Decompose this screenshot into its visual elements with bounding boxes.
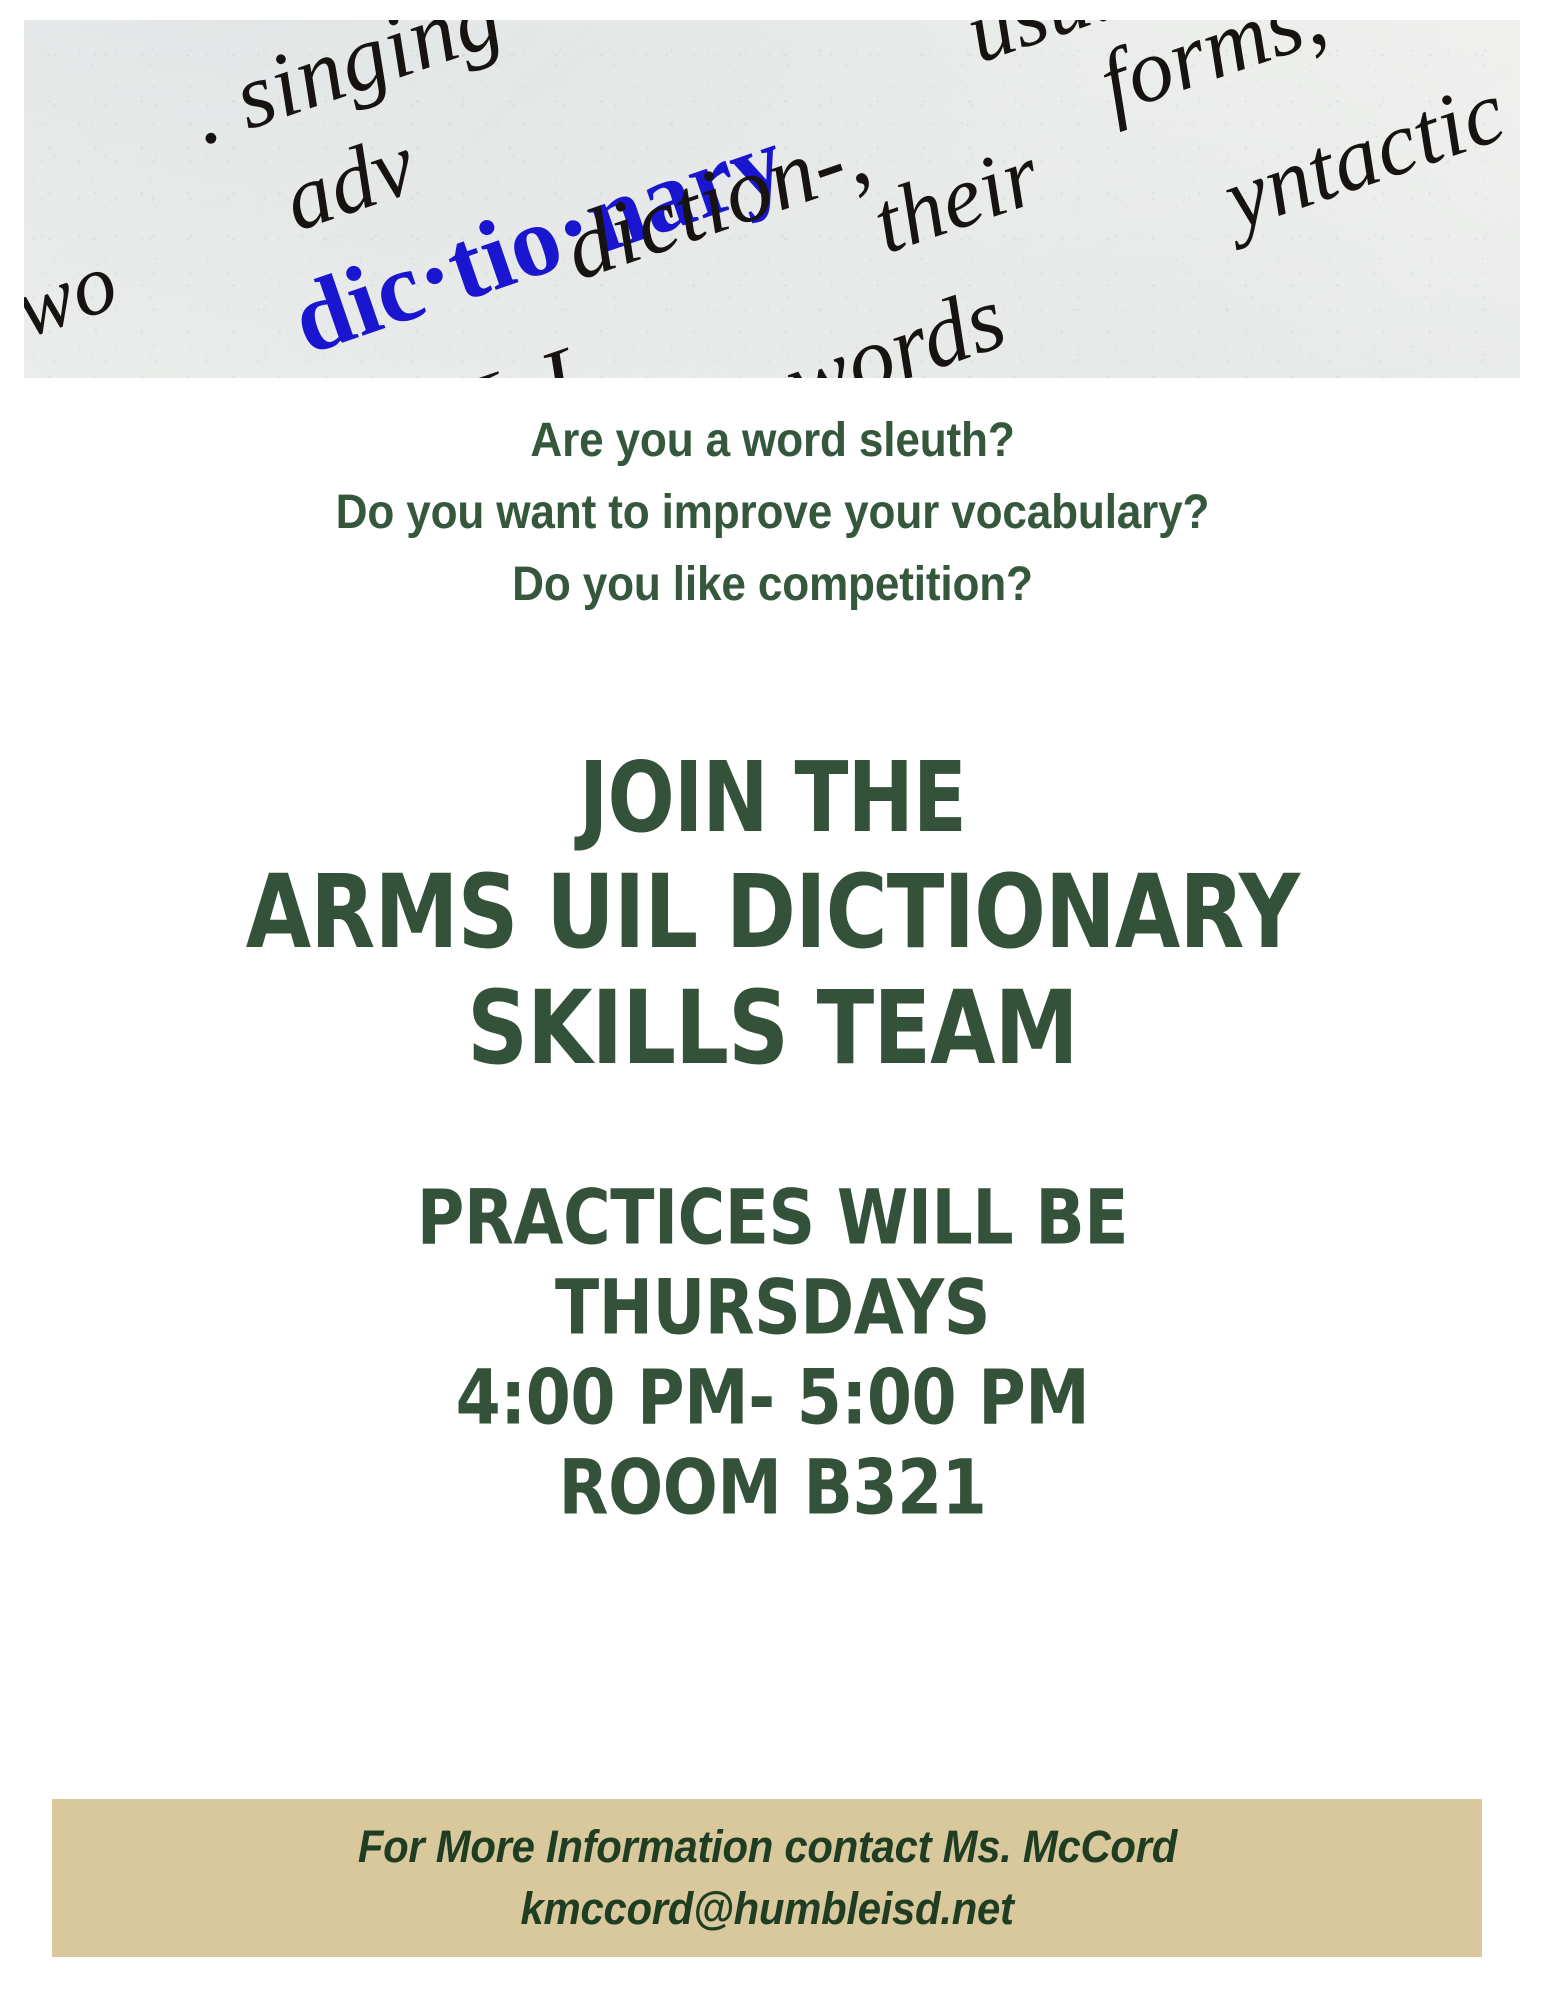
dictionary-page-photo: wo ion . singing adv dic·tio·nary dictio… xyxy=(24,20,1520,378)
practice-details: PRACTICES WILL BE THURSDAYS 4:00 PM- 5:0… xyxy=(0,1172,1545,1532)
detail-line-room: ROOM B321 xyxy=(77,1440,1468,1535)
dict-word-yntactic: yntactic xyxy=(1211,60,1518,251)
title-line-arms-uil-dictionary: ARMS UIL DICTIONARY xyxy=(93,851,1453,974)
title-line-skills-team: SKILLS TEAM xyxy=(93,967,1453,1090)
subheadline-line-2: Do you want to improve your vocabulary? xyxy=(62,477,1483,549)
dict-word-forms: forms, xyxy=(1087,20,1339,135)
subheadline-line-1: Are you a word sleuth? xyxy=(62,405,1483,477)
footer-email-address[interactable]: kmccord@humbleisd.net xyxy=(520,1878,1013,1940)
page-title: JOIN THE ARMS UIL DICTIONARY SKILLS TEAM xyxy=(0,742,1545,1086)
dict-word-their: their xyxy=(860,124,1052,274)
dict-word-ion: ion xyxy=(24,366,134,378)
footer-contact-text: For More Information contact Ms. McCord xyxy=(357,1816,1176,1878)
dict-word-l-l: L L xyxy=(457,319,610,378)
dict-word-to: wo xyxy=(24,231,129,359)
subheadline-group: Are you a word sleuth? Do you want to im… xyxy=(0,405,1545,621)
detail-line-practices-will-be: PRACTICES WILL BE xyxy=(77,1170,1468,1265)
subheadline-line-3: Do you like competition? xyxy=(62,549,1483,621)
detail-line-thursdays: THURSDAYS xyxy=(77,1260,1468,1355)
contact-footer-band: For More Information contact Ms. McCord … xyxy=(52,1799,1482,1957)
detail-line-time-range: 4:00 PM- 5:00 PM xyxy=(77,1350,1468,1445)
header-dictionary-photo: wo ion . singing adv dic·tio·nary dictio… xyxy=(24,20,1520,378)
dictionary-text-layer: wo ion . singing adv dic·tio·nary dictio… xyxy=(24,20,1520,378)
title-line-join-the: JOIN THE xyxy=(108,739,1437,858)
flyer-page: { "page": { "background_color": "#FFFFFF… xyxy=(0,0,1545,2000)
